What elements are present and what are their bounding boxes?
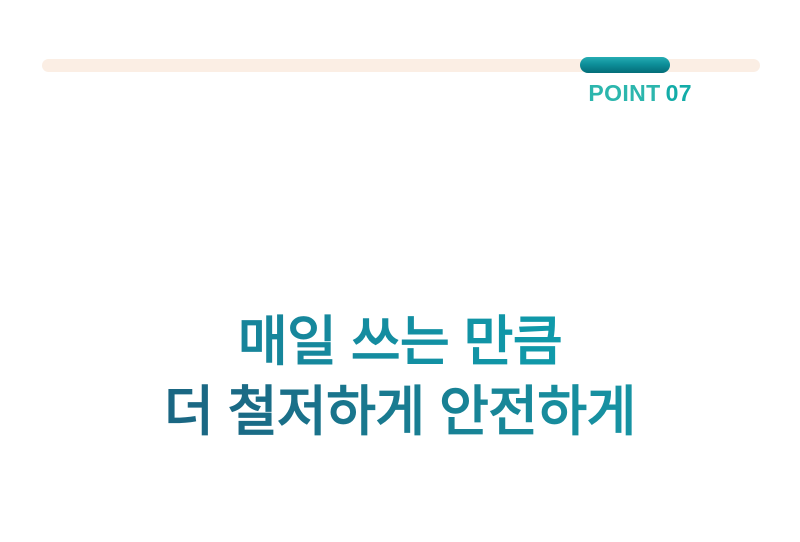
progress-indicator xyxy=(42,59,760,72)
slide-canvas: POINT07 매일 쓰는 만큼 더 철저하게 안전하게 xyxy=(0,0,800,542)
page-title: 매일 쓰는 만큼 더 철저하게 안전하게 xyxy=(0,307,800,447)
headline-line-1: 매일 쓰는 만큼 xyxy=(0,307,800,377)
headline-line-2: 더 철저하게 안전하게 xyxy=(0,377,800,447)
progress-active-step[interactable] xyxy=(580,57,670,73)
point-label-number: 07 xyxy=(666,80,692,106)
point-label-word: POINT xyxy=(588,80,660,106)
point-label: POINT07 xyxy=(0,82,692,105)
